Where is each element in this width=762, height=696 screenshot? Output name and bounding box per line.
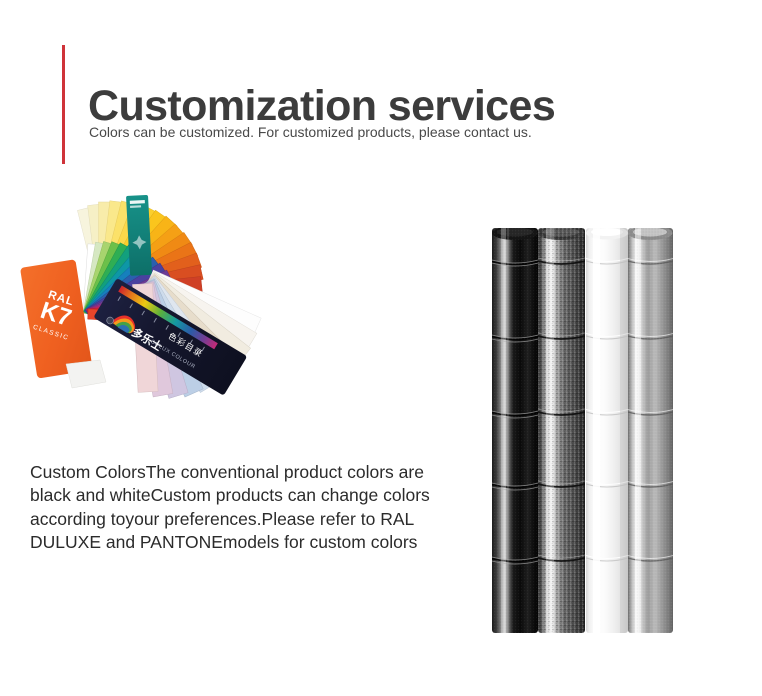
post-white-gloss <box>586 227 628 634</box>
post-hammered-textured <box>538 226 586 633</box>
color-fan-deck-image: RAL K7 CLASSIC <box>14 182 296 404</box>
post-chrome-silver <box>628 226 674 633</box>
page-title: Customization services <box>88 85 555 128</box>
post-black-gloss <box>492 226 538 633</box>
page-subtitle: Colors can be customized. For customized… <box>89 124 532 141</box>
color-fan-deck-graphic: RAL K7 CLASSIC <box>14 182 296 404</box>
finish-posts-graphic <box>470 215 690 645</box>
custom-colors-description: Custom ColorsThe conventional product co… <box>30 461 432 555</box>
header-accent-bar <box>62 45 65 164</box>
page-header: Customization services Colors can be cus… <box>0 0 762 180</box>
pantone-guide-card <box>126 195 152 276</box>
product-finish-samples <box>470 215 690 645</box>
fan-backing-page <box>66 360 106 388</box>
ral-k7-card: RAL K7 CLASSIC <box>20 259 93 378</box>
